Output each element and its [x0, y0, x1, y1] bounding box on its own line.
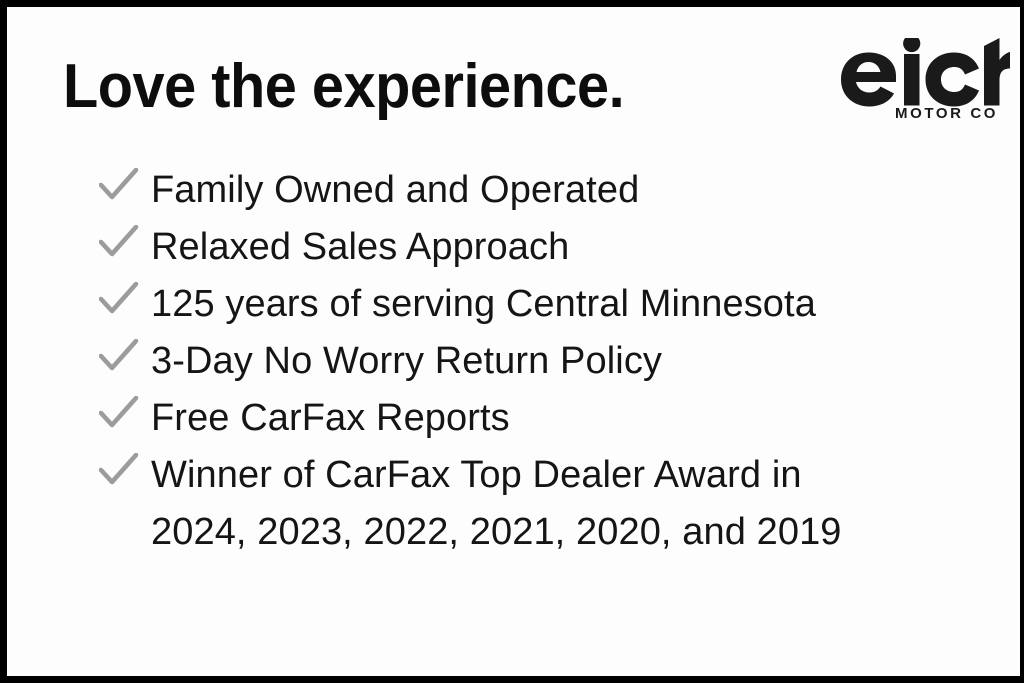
list-item: 3-Day No Worry Return Policy [99, 333, 999, 390]
list-item-label: 125 years of serving Central Minnesota [151, 276, 999, 333]
list-item-label: Family Owned and Operated [151, 162, 999, 219]
advertisement-content: Love the experience. MOTOR CO [7, 7, 1020, 676]
advertisement-frame: Love the experience. MOTOR CO [0, 0, 1024, 683]
list-item: Free CarFax Reports [99, 390, 999, 447]
check-icon [99, 276, 151, 316]
eich-wordmark-icon [838, 38, 1010, 108]
list-item: 125 years of serving Central Minnesota [99, 276, 999, 333]
check-icon [99, 219, 151, 259]
list-item: Family Owned and Operated [99, 162, 999, 219]
check-icon [99, 447, 151, 487]
list-item-label: 3-Day No Worry Return Policy [151, 333, 999, 390]
page-title: Love the experience. [63, 54, 624, 120]
list-item: Winner of CarFax Top Dealer Award in [99, 447, 999, 504]
list-item-label-continuation: 2024, 2023, 2022, 2021, 2020, and 2019 [151, 504, 999, 561]
list-item-label: Winner of CarFax Top Dealer Award in [151, 447, 999, 504]
benefits-list: Family Owned and Operated Relaxed Sales … [99, 162, 999, 561]
list-item-label: Free CarFax Reports [151, 390, 999, 447]
check-icon [99, 390, 151, 430]
list-item-label: Relaxed Sales Approach [151, 219, 999, 276]
check-icon [99, 162, 151, 202]
eich-motor-co-logo: MOTOR CO [838, 38, 1010, 130]
check-icon [99, 333, 151, 373]
logo-subtitle: MOTOR CO [895, 105, 998, 122]
list-item: Relaxed Sales Approach [99, 219, 999, 276]
